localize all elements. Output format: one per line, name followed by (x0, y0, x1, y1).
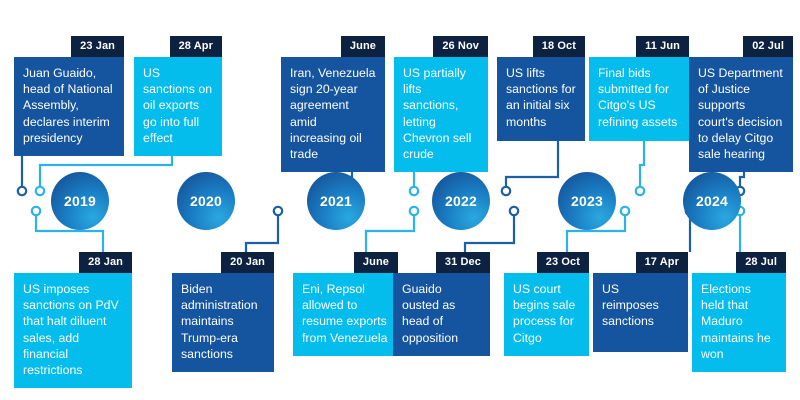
event-card[interactable]: 28 JanUS imposes sanctions on PdV that h… (14, 252, 132, 352)
event-date-tag: 02 Jul (743, 36, 793, 57)
event-card[interactable]: 26 NovUS partially lifts sanctions, lett… (394, 36, 488, 141)
event-date-tag: 11 Jun (636, 36, 689, 57)
timeline-marker[interactable] (36, 187, 44, 195)
event-description: Biden administration maintains Trump-era… (172, 273, 274, 372)
event-description: US court begins sale process for Citgo (504, 273, 589, 356)
timeline-infographic: 23 JanJuan Guaido, head of National Asse… (0, 0, 800, 400)
event-description: US Department of Justice supports court'… (689, 57, 793, 172)
event-description: US sanctions on oil exports go into full… (134, 57, 222, 156)
event-date-tag: 18 Oct (533, 36, 585, 57)
event-date-tag: 28 Apr (170, 36, 222, 57)
event-card[interactable]: 28 JulElections held that Maduro maintai… (692, 252, 786, 352)
year-node[interactable]: 2022 (432, 172, 490, 230)
event-description: US partially lifts sanctions, letting Ch… (394, 57, 488, 172)
event-description: Guaido ousted as head of opposition (393, 273, 490, 356)
event-description: US imposes sanctions on PdV that halt di… (14, 273, 132, 388)
timeline-markers (18, 187, 744, 215)
event-card[interactable]: 11 JunFinal bids submitted for Citgo's U… (589, 36, 689, 141)
event-description: Juan Guaido, head of National Assembly, … (14, 57, 124, 156)
event-description: Final bids submitted for Citgo's US refi… (589, 57, 689, 141)
event-card[interactable]: JuneEni, Repsol allowed to resume export… (293, 252, 398, 352)
event-description: Elections held that Maduro maintains he … (692, 273, 786, 372)
connector-line (506, 141, 558, 187)
event-date-tag: June (354, 252, 398, 273)
event-date-tag: 23 Oct (537, 252, 589, 273)
event-card[interactable]: 28 AprUS sanctions on oil exports go int… (134, 36, 222, 141)
event-card[interactable]: JuneIran, Venezuela sign 20-year agreeme… (281, 36, 385, 141)
event-date-tag: 31 Dec (436, 252, 490, 273)
event-card[interactable]: 18 OctUS lifts sanctions for an initial … (497, 36, 585, 141)
event-card[interactable]: 02 JulUS Department of Justice supports … (689, 36, 793, 141)
event-date-tag: 26 Nov (433, 36, 488, 57)
event-date-tag: June (341, 36, 385, 57)
event-description: US lifts sanctions for an initial six mo… (497, 57, 585, 141)
event-date-tag: 28 Jan (79, 252, 132, 273)
timeline-marker[interactable] (621, 207, 629, 215)
timeline-marker[interactable] (32, 207, 40, 215)
timeline-marker[interactable] (636, 187, 644, 195)
event-date-tag: 17 Apr (636, 252, 688, 273)
event-date-tag: 23 Jan (71, 36, 124, 57)
event-date-tag: 20 Jan (221, 252, 274, 273)
event-date-tag: 28 Jul (736, 252, 786, 273)
connector-line (366, 215, 414, 252)
event-card[interactable]: 31 DecGuaido ousted as head of oppositio… (393, 252, 490, 352)
event-card[interactable]: 23 JanJuan Guaido, head of National Asse… (14, 36, 124, 141)
year-node[interactable]: 2020 (177, 172, 235, 230)
timeline-marker[interactable] (502, 187, 510, 195)
timeline-marker[interactable] (274, 207, 282, 215)
timeline-marker[interactable] (18, 187, 26, 195)
year-node[interactable]: 2023 (558, 172, 616, 230)
connector-line (640, 141, 644, 187)
event-description: Iran, Venezuela sign 20-year agreement a… (281, 57, 385, 172)
timeline-marker[interactable] (410, 187, 418, 195)
event-card[interactable]: 20 JanBiden administration maintains Tru… (172, 252, 274, 352)
connector-line (246, 215, 278, 252)
event-description: US reimposes sanctions (593, 273, 688, 352)
year-node[interactable]: 2019 (51, 172, 109, 230)
event-description: Eni, Repsol allowed to resume exports fr… (293, 273, 398, 356)
timeline-marker[interactable] (510, 207, 518, 215)
timeline-marker[interactable] (410, 207, 418, 215)
event-card[interactable]: 23 OctUS court begins sale process for C… (504, 252, 589, 352)
year-node[interactable]: 2024 (683, 172, 741, 230)
event-card[interactable]: 17 AprUS reimposes sanctions (593, 252, 688, 352)
year-node[interactable]: 2021 (307, 172, 365, 230)
